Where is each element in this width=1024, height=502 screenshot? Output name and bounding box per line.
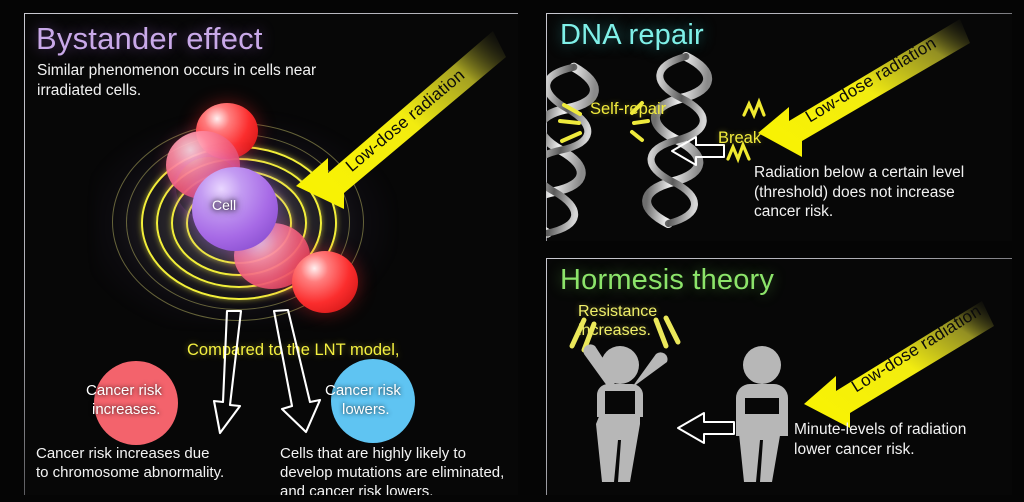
dna-helix-broken: [644, 54, 709, 226]
cell-neighbour-red-bottom: [292, 251, 358, 313]
dna-body-text: Radiation below a certain level (thresho…: [754, 163, 1004, 222]
bystander-intro-text: Similar phenomenon occurs in cells near …: [37, 61, 457, 100]
cell-label: Cell: [212, 197, 236, 213]
risk-increase-line2: increases.: [92, 400, 160, 419]
risk-lower-line1: Cancer risk: [325, 381, 401, 400]
panel-title-dna-repair: DNA repair: [560, 19, 704, 52]
bystander-left-caption: Cancer risk increases due to chromosome …: [36, 444, 281, 482]
risk-lower-line2: lowers.: [342, 400, 390, 419]
panel-dna-repair: DNA repair: [546, 13, 1012, 241]
hormesis-body-text: Minute-levels of radiation lower cancer …: [794, 420, 1010, 459]
self-repair-label: Self-repair: [590, 100, 666, 119]
panel-bystander-effect: Bystander effect Similar phenomenon occu…: [24, 13, 518, 495]
hormesis-change-arrow: [678, 413, 734, 443]
risk-increase-line1: Cancer risk: [86, 381, 162, 400]
person-exposed: [736, 346, 788, 482]
resistance-label: Resistance increases.: [578, 302, 657, 340]
panel-title-bystander: Bystander effect: [36, 21, 263, 57]
break-zigzag-top: [744, 102, 764, 115]
person-resistant: [583, 344, 667, 482]
dna-radiation-label: Low-dose radiation: [802, 33, 940, 127]
dna-helix-repaired: [546, 63, 598, 236]
self-repair-arrow: [672, 137, 724, 165]
panel-title-hormesis: Hormesis theory: [560, 264, 774, 297]
bystander-right-caption: Cells that are highly likely to develop …: [280, 444, 518, 495]
panel-hormesis-theory: Hormesis theory Resistance increases.: [546, 258, 1012, 495]
break-label: Break: [718, 129, 761, 148]
hormesis-radiation-label: Low-dose radiation: [848, 301, 985, 397]
infographic-root: Bystander effect Similar phenomenon occu…: [0, 0, 1024, 502]
lnt-compare-note: Compared to the LNT model,: [187, 341, 399, 360]
